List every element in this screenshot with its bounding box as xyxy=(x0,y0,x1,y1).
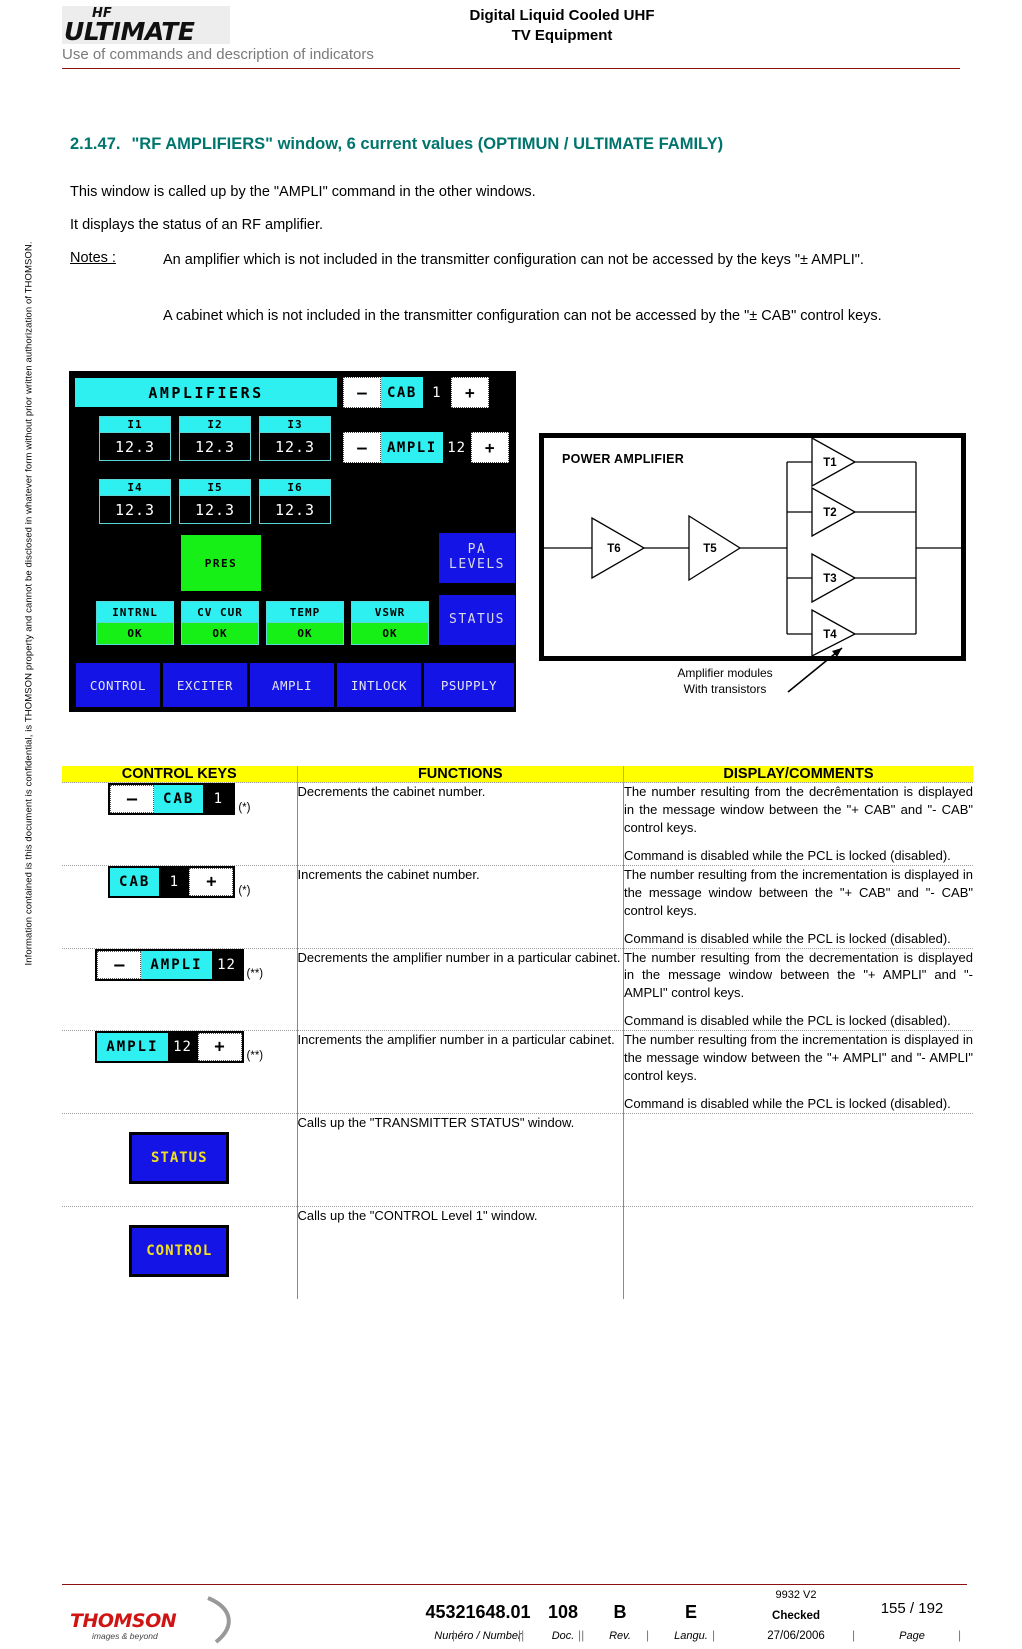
ampli-stepper[interactable]: — AMPLI 12 + xyxy=(343,432,509,463)
row1-key-cell: — CAB 1 (*) xyxy=(62,783,297,866)
section-title-text: "RF AMPLIFIERS" window, 6 current values… xyxy=(131,135,723,153)
footer-doc-value: 108 xyxy=(528,1602,598,1623)
footer-rev-value: B xyxy=(590,1602,650,1623)
function-text: Calls up the "TRANSMITTER STATUS" window… xyxy=(298,1114,623,1132)
thomson-wordmark: THOMSON xyxy=(70,1610,176,1632)
key-value: 12 xyxy=(168,1033,198,1061)
caption-line-2: With transistors xyxy=(660,681,790,697)
function-text: Decrements the cabinet number. xyxy=(298,783,623,801)
pa-levels-line1: PA xyxy=(468,543,487,558)
key-label: AMPLI xyxy=(141,951,211,979)
function-text: Increments the amplifier number in a par… xyxy=(298,1031,623,1049)
row3-function-cell: Decrements the amplifier number in a par… xyxy=(297,948,623,1031)
column-header-control-keys: CONTROL KEYS xyxy=(62,766,297,783)
footer-separator: | xyxy=(958,1628,961,1642)
status-key-graphic[interactable]: STATUS xyxy=(129,1132,229,1184)
function-text: Calls up the "CONTROL Level 1" window. xyxy=(298,1207,623,1225)
current-label-i1: I1 xyxy=(99,416,171,433)
table-row: — AMPLI 12 (**) Decrements the amplifier… xyxy=(62,948,973,1031)
row4-function-cell: Increments the amplifier number in a par… xyxy=(297,1031,623,1114)
display-text-1: The number resulting from the incrementa… xyxy=(624,866,973,920)
display-text-2: Command is disabled while the PCL is loc… xyxy=(624,847,973,865)
key-value: 12 xyxy=(212,951,242,979)
stage-label-t5: T5 xyxy=(703,543,717,555)
current-label-i2: I2 xyxy=(179,416,251,433)
power-amplifier-diagram: POWER AMPLIFIER xyxy=(539,433,966,661)
row2-function-cell: Increments the cabinet number. xyxy=(297,865,623,948)
display-text-2: Command is disabled while the PCL is loc… xyxy=(624,930,973,948)
footer-separator: | xyxy=(852,1628,855,1642)
nav-button-ampli[interactable]: AMPLI xyxy=(250,663,334,707)
current-value-i1: 12.3 xyxy=(99,433,171,461)
cab-stepper[interactable]: — CAB 1 + xyxy=(343,377,489,408)
key-value: 1 xyxy=(159,868,189,896)
logo-wordmark: ULTIMATE xyxy=(64,17,194,44)
minus-icon[interactable]: — xyxy=(97,951,141,979)
note-item-2: A cabinet which is not included in the t… xyxy=(163,306,895,328)
footnote-marker: (**) xyxy=(247,1050,264,1063)
row3-display-cell: The number resulting from the decrementa… xyxy=(623,948,973,1031)
table-row: CONTROL Calls up the "CONTROL Level 1" w… xyxy=(62,1207,973,1300)
pa-levels-button[interactable]: PA LEVELS xyxy=(439,533,515,583)
amplifiers-window-screenshot: AMPLIFIERS — CAB 1 + I1 12.3 I2 12.3 I3 … xyxy=(69,371,516,712)
section-number: 2.1.47. xyxy=(70,135,120,153)
function-text: Decrements the amplifier number in a par… xyxy=(298,949,623,967)
footer-rev-label: Rev. xyxy=(590,1630,650,1642)
row6-function-cell: Calls up the "CONTROL Level 1" window. xyxy=(297,1207,623,1300)
footer-separator: || xyxy=(518,1628,524,1642)
footer-page-label: Page xyxy=(862,1630,962,1642)
document-subtitle: Use of commands and description of indic… xyxy=(62,46,374,63)
indicator-label-vswr: VSWR xyxy=(351,601,429,623)
amplifier-modules-caption: Amplifier modules With transistors xyxy=(660,665,790,697)
thomson-tagline: images & beyond xyxy=(92,1631,158,1641)
cab-stepper-value: 1 xyxy=(423,377,451,408)
uhf-ultimate-logo: HF ULTIMATE xyxy=(62,6,230,44)
footnote-marker: (*) xyxy=(238,885,250,898)
cab-increment-button[interactable]: + xyxy=(451,377,489,408)
window-title-bar: AMPLIFIERS xyxy=(75,378,337,407)
current-value-i3: 12.3 xyxy=(259,433,331,461)
table-row: CAB 1 + (*) Increments the cabinet numbe… xyxy=(62,865,973,948)
display-text-2: Command is disabled while the PCL is loc… xyxy=(624,1012,973,1030)
document-title: Digital Liquid Cooled UHF TV Equipment xyxy=(322,6,802,47)
stage-label-t3: T3 xyxy=(823,573,836,585)
document-title-line1: Digital Liquid Cooled UHF xyxy=(322,6,802,26)
page-header: HF ULTIMATE Digital Liquid Cooled UHF TV… xyxy=(62,4,962,66)
column-header-display-comments: DISPLAY/COMMENTS xyxy=(623,766,973,783)
ampli-increment-button[interactable]: + xyxy=(471,432,509,463)
pa-levels-line2: LEVELS xyxy=(449,558,505,573)
display-text-1: The number resulting from the decrementa… xyxy=(624,949,973,1003)
function-text: Increments the cabinet number. xyxy=(298,866,623,884)
ampli-stepper-value: 12 xyxy=(443,432,471,463)
indicator-status-vswr: OK xyxy=(351,623,429,645)
table-row: AMPLI 12 + (**) Increments the amplifier… xyxy=(62,1031,973,1114)
footer-checked-label: Checked xyxy=(748,1610,844,1622)
footer-separator: | xyxy=(712,1628,715,1642)
cab-stepper-label: CAB xyxy=(381,377,423,408)
current-label-i3: I3 xyxy=(259,416,331,433)
minus-icon[interactable]: — xyxy=(110,785,154,813)
plus-icon[interactable]: + xyxy=(198,1033,242,1061)
key-label: CAB xyxy=(110,868,159,896)
display-text-1: The number resulting from the decrêmenta… xyxy=(624,783,973,837)
footnote-marker: (*) xyxy=(238,802,250,815)
confidentiality-notice: Information contained is this document i… xyxy=(24,326,35,966)
column-header-functions: FUNCTIONS xyxy=(297,766,623,783)
nav-button-intlock[interactable]: INTLOCK xyxy=(337,663,421,707)
row6-key-cell: CONTROL xyxy=(62,1207,297,1300)
footer-langu-value: E xyxy=(660,1602,722,1623)
thomson-swoosh-icon xyxy=(202,1596,242,1644)
current-value-i6: 12.3 xyxy=(259,496,331,524)
row3-key-cell: — AMPLI 12 (**) xyxy=(62,948,297,1031)
key-value: 1 xyxy=(203,785,233,813)
nav-button-control[interactable]: CONTROL xyxy=(76,663,160,707)
stage-label-t1: T1 xyxy=(823,457,837,469)
control-key-graphic[interactable]: CONTROL xyxy=(129,1225,229,1277)
table-header-row: CONTROL KEYS FUNCTIONS DISPLAY/COMMENTS xyxy=(62,766,973,783)
footer-divider xyxy=(62,1584,967,1585)
intro-paragraph-2: It displays the status of an RF amplifie… xyxy=(70,215,323,236)
row2-display-cell: The number resulting from the incrementa… xyxy=(623,865,973,948)
stage-label-t6: T6 xyxy=(607,543,620,555)
table-row: — CAB 1 (*) Decrements the cabinet numbe… xyxy=(62,783,973,866)
current-value-i4: 12.3 xyxy=(99,496,171,524)
row6-display-cell xyxy=(623,1207,973,1300)
amplifier-chain-svg: T6 T5 T1 T2 T3 T4 xyxy=(544,438,961,656)
power-amplifier-label: POWER AMPLIFIER xyxy=(562,452,684,466)
footer-doc-label: Doc. xyxy=(528,1630,598,1642)
note-item-1: An amplifier which is not included in th… xyxy=(163,250,895,272)
footer-separator: | xyxy=(452,1628,455,1642)
row1-display-cell: The number resulting from the decrêmenta… xyxy=(623,783,973,866)
footer-separator: || xyxy=(578,1628,584,1642)
plus-icon[interactable]: + xyxy=(189,868,233,896)
current-value-i2: 12.3 xyxy=(179,433,251,461)
table-row: STATUS Calls up the "TRANSMITTER STATUS"… xyxy=(62,1114,973,1207)
current-label-i4: I4 xyxy=(99,479,171,496)
indicator-label-intrnl: INTRNL xyxy=(96,601,174,623)
section-heading: 2.1.47."RF AMPLIFIERS" window, 6 current… xyxy=(70,135,723,154)
cab-decrement-key-graphic[interactable]: — CAB 1 (*) xyxy=(108,783,250,815)
row2-key-cell: CAB 1 + (*) xyxy=(62,865,297,948)
cab-decrement-button[interactable]: — xyxy=(343,377,381,408)
row5-key-cell: STATUS xyxy=(62,1114,297,1207)
nav-button-psupply[interactable]: PSUPPLY xyxy=(424,663,514,707)
cab-increment-key-graphic[interactable]: CAB 1 + (*) xyxy=(108,866,250,898)
row1-function-cell: Decrements the cabinet number. xyxy=(297,783,623,866)
ampli-increment-key-graphic[interactable]: AMPLI 12 + (**) xyxy=(95,1031,263,1063)
control-keys-table: CONTROL KEYS FUNCTIONS DISPLAY/COMMENTS … xyxy=(62,766,973,1299)
notes-label-text: Notes : xyxy=(70,250,116,266)
indicator-status-intrnl: OK xyxy=(96,623,174,645)
intro-paragraph-1: This window is called up by the "AMPLI" … xyxy=(70,182,536,203)
current-label-i5: I5 xyxy=(179,479,251,496)
thomson-logo: THOMSON images & beyond xyxy=(62,1596,242,1644)
current-label-i6: I6 xyxy=(259,479,331,496)
footer-separator: | xyxy=(646,1628,649,1642)
nav-button-exciter[interactable]: EXCITER xyxy=(163,663,247,707)
footnote-marker: (**) xyxy=(247,968,264,981)
header-divider xyxy=(62,68,960,69)
indicator-label-cv-cur: CV CUR xyxy=(181,601,259,623)
row4-display-cell: The number resulting from the incrementa… xyxy=(623,1031,973,1114)
pres-indicator: PRES xyxy=(181,535,261,591)
row5-function-cell: Calls up the "TRANSMITTER STATUS" window… xyxy=(297,1114,623,1207)
footer-checked-date: 27/06/2006 xyxy=(742,1630,850,1642)
display-text-1: The number resulting from the incrementa… xyxy=(624,1031,973,1085)
row5-display-cell xyxy=(623,1114,973,1207)
key-label: AMPLI xyxy=(97,1033,167,1061)
document-title-line2: TV Equipment xyxy=(322,26,802,46)
indicator-label-temp: TEMP xyxy=(266,601,344,623)
row4-key-cell: AMPLI 12 + (**) xyxy=(62,1031,297,1114)
footer-page-value: 155 / 192 xyxy=(862,1600,962,1617)
notes-label: Notes : xyxy=(70,250,116,266)
current-value-i5: 12.3 xyxy=(179,496,251,524)
indicator-status-temp: OK xyxy=(266,623,344,645)
display-text-2: Command is disabled while the PCL is loc… xyxy=(624,1095,973,1113)
key-label: CAB xyxy=(154,785,203,813)
callout-leader-line xyxy=(780,640,870,700)
indicator-status-cv-cur: OK xyxy=(181,623,259,645)
caption-line-1: Amplifier modules xyxy=(660,665,790,681)
status-button[interactable]: STATUS xyxy=(439,595,515,645)
ampli-stepper-label: AMPLI xyxy=(381,432,443,463)
ampli-decrement-button[interactable]: — xyxy=(343,432,381,463)
footer-checked-code: 9932 V2 xyxy=(748,1589,844,1601)
ampli-decrement-key-graphic[interactable]: — AMPLI 12 (**) xyxy=(95,949,263,981)
stage-label-t2: T2 xyxy=(823,507,836,519)
